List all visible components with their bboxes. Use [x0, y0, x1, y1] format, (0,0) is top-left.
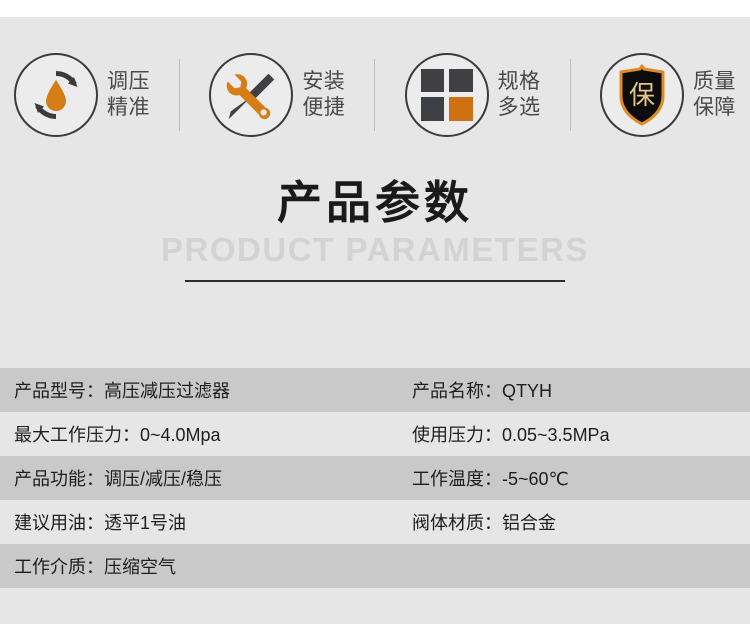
grid-square-1	[421, 69, 445, 93]
param-label: 阀体材质：	[412, 513, 502, 533]
param-cell-right: 产品名称：QTYH	[412, 377, 750, 403]
feature-label-line2: 保障	[693, 95, 736, 121]
grid-square-2	[449, 69, 473, 93]
four-square-grid-icon	[405, 53, 489, 137]
param-value: 0~4.0Mpa	[140, 425, 221, 445]
feature-label-quality-guarantee: 质量 保障	[693, 69, 736, 120]
param-label: 使用压力：	[412, 425, 502, 445]
param-value: 透平1号油	[104, 513, 186, 533]
title-underline	[185, 280, 565, 282]
feature-label-line1: 安装	[302, 69, 345, 95]
param-value: 铝合金	[502, 513, 556, 533]
param-value: 高压减压过滤器	[104, 381, 230, 401]
shield-character: 保	[629, 80, 655, 110]
product-parameters-page: 调压 精准 安装 便捷	[0, 0, 750, 624]
param-label: 产品功能：	[14, 469, 104, 489]
table-row: 工作介质：压缩空气	[0, 544, 750, 588]
feature-divider-2	[374, 59, 375, 131]
param-label: 产品型号：	[14, 381, 104, 401]
param-cell-left: 产品功能：调压/减压/稳压	[0, 465, 412, 491]
grid-square-3	[421, 97, 445, 121]
param-cell-left: 建议用油：透平1号油	[0, 509, 412, 535]
feature-divider-1	[179, 59, 180, 131]
param-value: 0.05~3.5MPa	[502, 425, 610, 445]
param-label: 产品名称：	[412, 381, 502, 401]
feature-label-easy-install: 安装 便捷	[302, 69, 345, 120]
param-value: -5~60℃	[502, 469, 569, 489]
table-row: 最大工作压力：0~4.0Mpa 使用压力：0.05~3.5MPa	[0, 412, 750, 456]
param-value: 调压/减压/稳压	[104, 469, 222, 489]
param-cell-right: 阀体材质：铝合金	[412, 509, 750, 535]
feature-item-quality-guarantee: 保 质量 保障	[600, 53, 736, 137]
param-cell-left: 产品型号：高压减压过滤器	[0, 377, 412, 403]
product-parameters-table: 产品型号：高压减压过滤器 产品名称：QTYH 最大工作压力：0~4.0Mpa 使…	[0, 368, 750, 588]
page-subtitle: PRODUCT PARAMETERS	[0, 229, 750, 270]
table-row: 产品型号：高压减压过滤器 产品名称：QTYH	[0, 368, 750, 412]
shield-guarantee-icon: 保	[600, 53, 684, 137]
feature-divider-3	[570, 59, 571, 131]
param-cell-left: 最大工作压力：0~4.0Mpa	[0, 421, 412, 447]
feature-item-easy-install: 安装 便捷	[209, 53, 345, 137]
param-value: 压缩空气	[104, 557, 176, 577]
top-white-strip	[0, 0, 750, 17]
param-label: 最大工作压力：	[14, 425, 140, 445]
feature-label-line1: 规格	[498, 69, 541, 95]
page-title: 产品参数	[0, 175, 750, 231]
param-cell-right: 使用压力：0.05~3.5MPa	[412, 421, 750, 447]
feature-label-line2: 便捷	[302, 95, 345, 121]
feature-label-multiple-specs: 规格 多选	[498, 69, 541, 120]
feature-label-pressure-regulation: 调压 精准	[107, 69, 150, 120]
feature-label-line1: 质量	[693, 69, 736, 95]
feature-item-pressure-regulation: 调压 精准	[14, 53, 150, 137]
param-cell-right: 工作温度：-5~60℃	[412, 465, 750, 491]
feature-label-line1: 调压	[107, 69, 150, 95]
table-row: 产品功能：调压/减压/稳压 工作温度：-5~60℃	[0, 456, 750, 500]
param-label: 建议用油：	[14, 513, 104, 533]
feature-item-multiple-specs: 规格 多选	[405, 53, 541, 137]
feature-label-line2: 多选	[498, 95, 541, 121]
section-title-block: 产品参数 PRODUCT PARAMETERS	[0, 175, 750, 282]
param-label: 工作温度：	[412, 469, 502, 489]
param-value: QTYH	[502, 381, 552, 401]
wrench-screwdriver-icon	[209, 53, 293, 137]
grid-square-4-accent	[449, 97, 473, 121]
param-label: 工作介质：	[14, 557, 104, 577]
table-row: 建议用油：透平1号油 阀体材质：铝合金	[0, 500, 750, 544]
grid-squares	[421, 69, 473, 121]
feature-highlights-bar: 调压 精准 安装 便捷	[0, 17, 750, 172]
feature-label-line2: 精准	[107, 95, 150, 121]
param-cell-left: 工作介质：压缩空气	[0, 553, 412, 579]
pressure-regulation-droplet-icon	[14, 53, 98, 137]
